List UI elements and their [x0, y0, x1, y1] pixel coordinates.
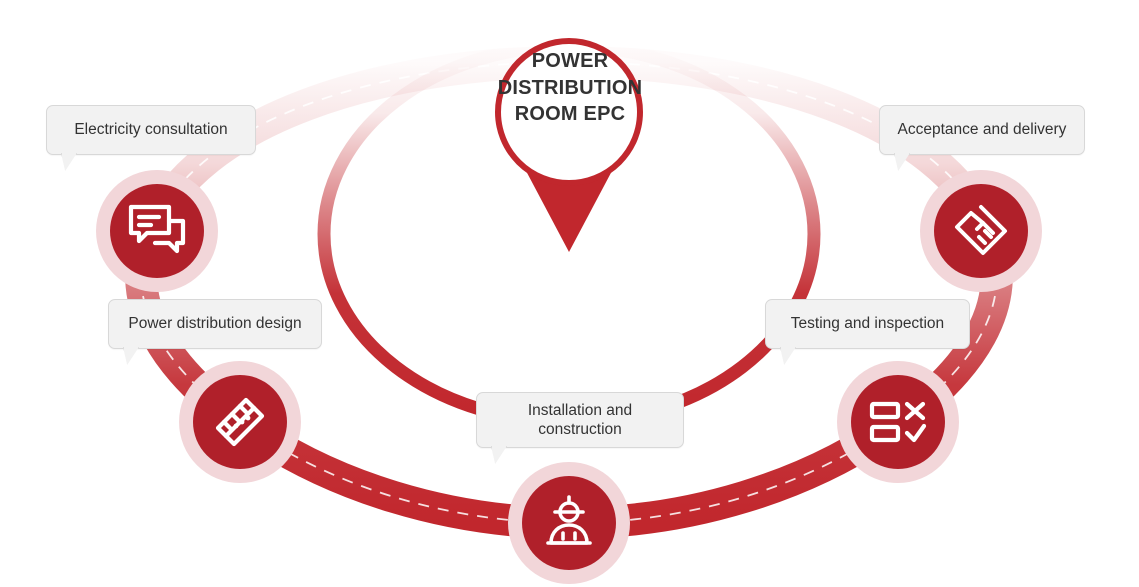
label-text: Electricity consultation	[74, 120, 227, 139]
node-electricity-consultation[interactable]	[96, 170, 218, 292]
node-circle	[934, 184, 1028, 278]
label-electricity-consultation[interactable]: Electricity consultation	[46, 105, 256, 155]
label-testing-inspection[interactable]: Testing and inspection	[765, 299, 970, 349]
node-acceptance-delivery[interactable]	[920, 170, 1042, 292]
node-circle	[851, 375, 945, 469]
label-text: Installation and construction	[528, 401, 632, 440]
node-testing-inspection[interactable]	[837, 361, 959, 483]
label-text: Power distribution design	[128, 314, 301, 333]
label-installation-construction[interactable]: Installation and construction	[476, 392, 684, 448]
label-text: Acceptance and delivery	[898, 120, 1067, 139]
label-power-distribution-design[interactable]: Power distribution design	[108, 299, 322, 349]
node-circle	[522, 476, 616, 570]
map-pin-icon	[498, 41, 640, 252]
node-installation-construction[interactable]	[508, 462, 630, 584]
diagram-canvas: POWER DISTRIBUTION ROOM EPC Electricity …	[0, 0, 1139, 587]
node-power-distribution-design[interactable]	[179, 361, 301, 483]
label-text: Testing and inspection	[791, 314, 944, 333]
process-diagram-svg	[0, 0, 1139, 587]
label-acceptance-delivery[interactable]: Acceptance and delivery	[879, 105, 1085, 155]
